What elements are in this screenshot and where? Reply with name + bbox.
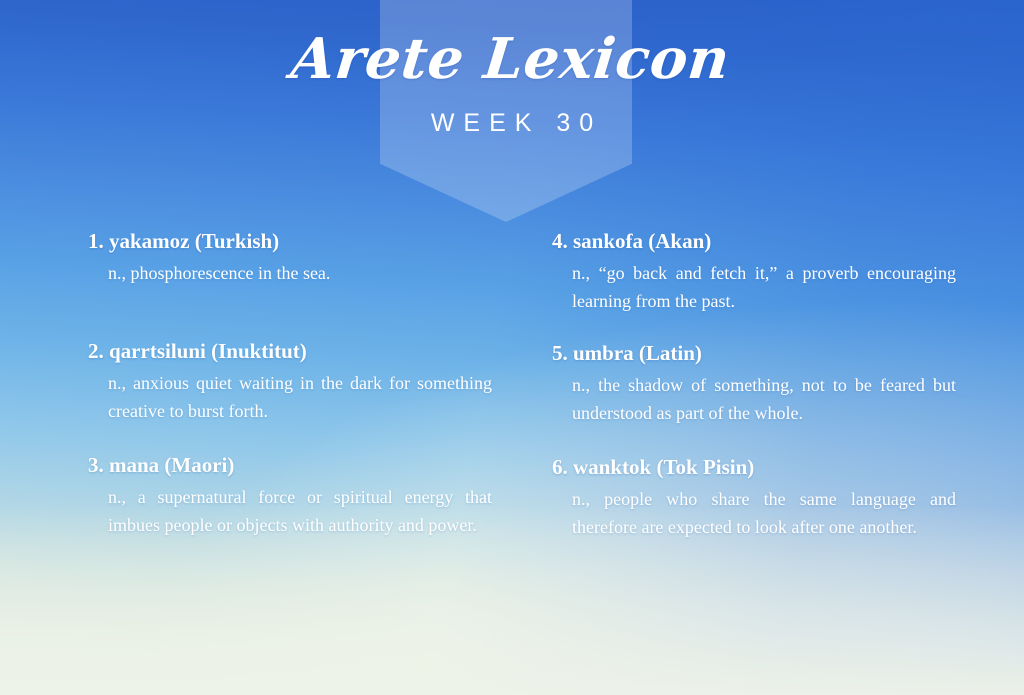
entry-term: 2. qarrtsiluni (Inuktitut) bbox=[88, 338, 492, 364]
entry-item: 5. umbra (Latin) n., the shadow of somet… bbox=[552, 340, 956, 428]
entry-term: 5. umbra (Latin) bbox=[552, 340, 956, 366]
entry-definition: n., anxious quiet waiting in the dark fo… bbox=[88, 370, 492, 426]
entries-column-left: 1. yakamoz (Turkish) n., phosphorescence… bbox=[88, 228, 492, 542]
entry-term: 6. wanktok (Tok Pisin) bbox=[552, 454, 956, 480]
entry-item: 6. wanktok (Tok Pisin) n., people who sh… bbox=[552, 454, 956, 542]
entry-definition: n., a supernatural force or spiritual en… bbox=[88, 484, 492, 540]
entry-definition: n., the shadow of something, not to be f… bbox=[552, 372, 956, 428]
lexicon-poster: Arete Lexicon WEEK 30 1. yakamoz (Turkis… bbox=[0, 0, 1024, 695]
entries-column-right: 4. sankofa (Akan) n., “go back and fetch… bbox=[552, 228, 956, 542]
header-ribbon-shape bbox=[380, 0, 632, 222]
entry-item: 4. sankofa (Akan) n., “go back and fetch… bbox=[552, 228, 956, 316]
entries-columns: 1. yakamoz (Turkish) n., phosphorescence… bbox=[0, 228, 1024, 542]
entry-term: 4. sankofa (Akan) bbox=[552, 228, 956, 254]
entry-definition: n., phosphorescence in the sea. bbox=[88, 260, 492, 288]
entry-item: 1. yakamoz (Turkish) n., phosphorescence… bbox=[88, 228, 492, 288]
entry-item: 3. mana (Maori) n., a supernatural force… bbox=[88, 452, 492, 540]
entry-item: 2. qarrtsiluni (Inuktitut) n., anxious q… bbox=[88, 338, 492, 426]
entry-term: 1. yakamoz (Turkish) bbox=[88, 228, 492, 254]
entry-definition: n., “go back and fetch it,” a proverb en… bbox=[552, 260, 956, 316]
entry-definition: n., people who share the same language a… bbox=[552, 486, 956, 542]
entry-term: 3. mana (Maori) bbox=[88, 452, 492, 478]
